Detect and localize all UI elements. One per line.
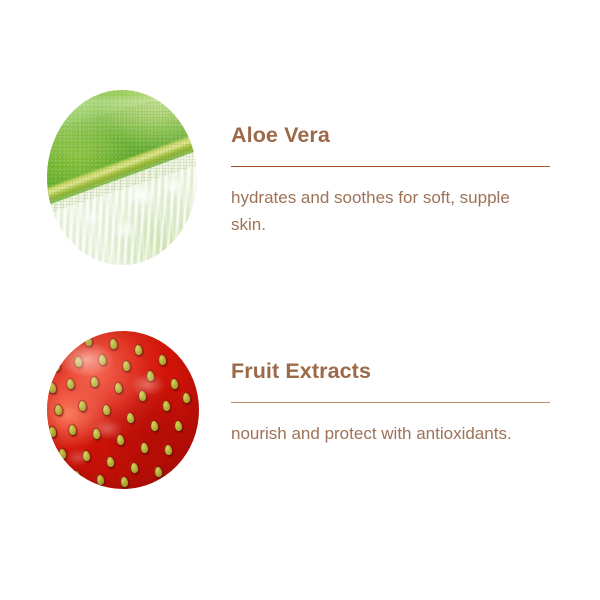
fruit-extracts-text-column: Fruit Extracts nourish and protect with … [231, 359, 561, 447]
aloe-vera-title: Aloe Vera [231, 123, 561, 147]
fruit-extracts-description: nourish and protect with antioxidants. [231, 403, 531, 447]
aloe-vera-text-column: Aloe Vera hydrates and soothes for soft,… [231, 123, 561, 238]
fruit-extracts-title: Fruit Extracts [231, 359, 561, 383]
strawberry-macro-photo-icon [47, 331, 199, 489]
fruit-extracts-image-wrapper [47, 331, 199, 489]
ingredient-benefits-page: Aloe Vera hydrates and soothes for soft,… [0, 0, 600, 600]
feature-block-aloe-vera: Aloe Vera hydrates and soothes for soft,… [0, 90, 600, 265]
aloe-vera-leaf-photo-icon [47, 90, 197, 265]
strawberry-shading [47, 331, 199, 489]
aloe-vera-image-wrapper [47, 90, 197, 265]
feature-block-fruit-extracts: Fruit Extracts nourish and protect with … [0, 331, 600, 493]
aloe-vera-description: hydrates and soothes for soft, supple sk… [231, 167, 531, 238]
